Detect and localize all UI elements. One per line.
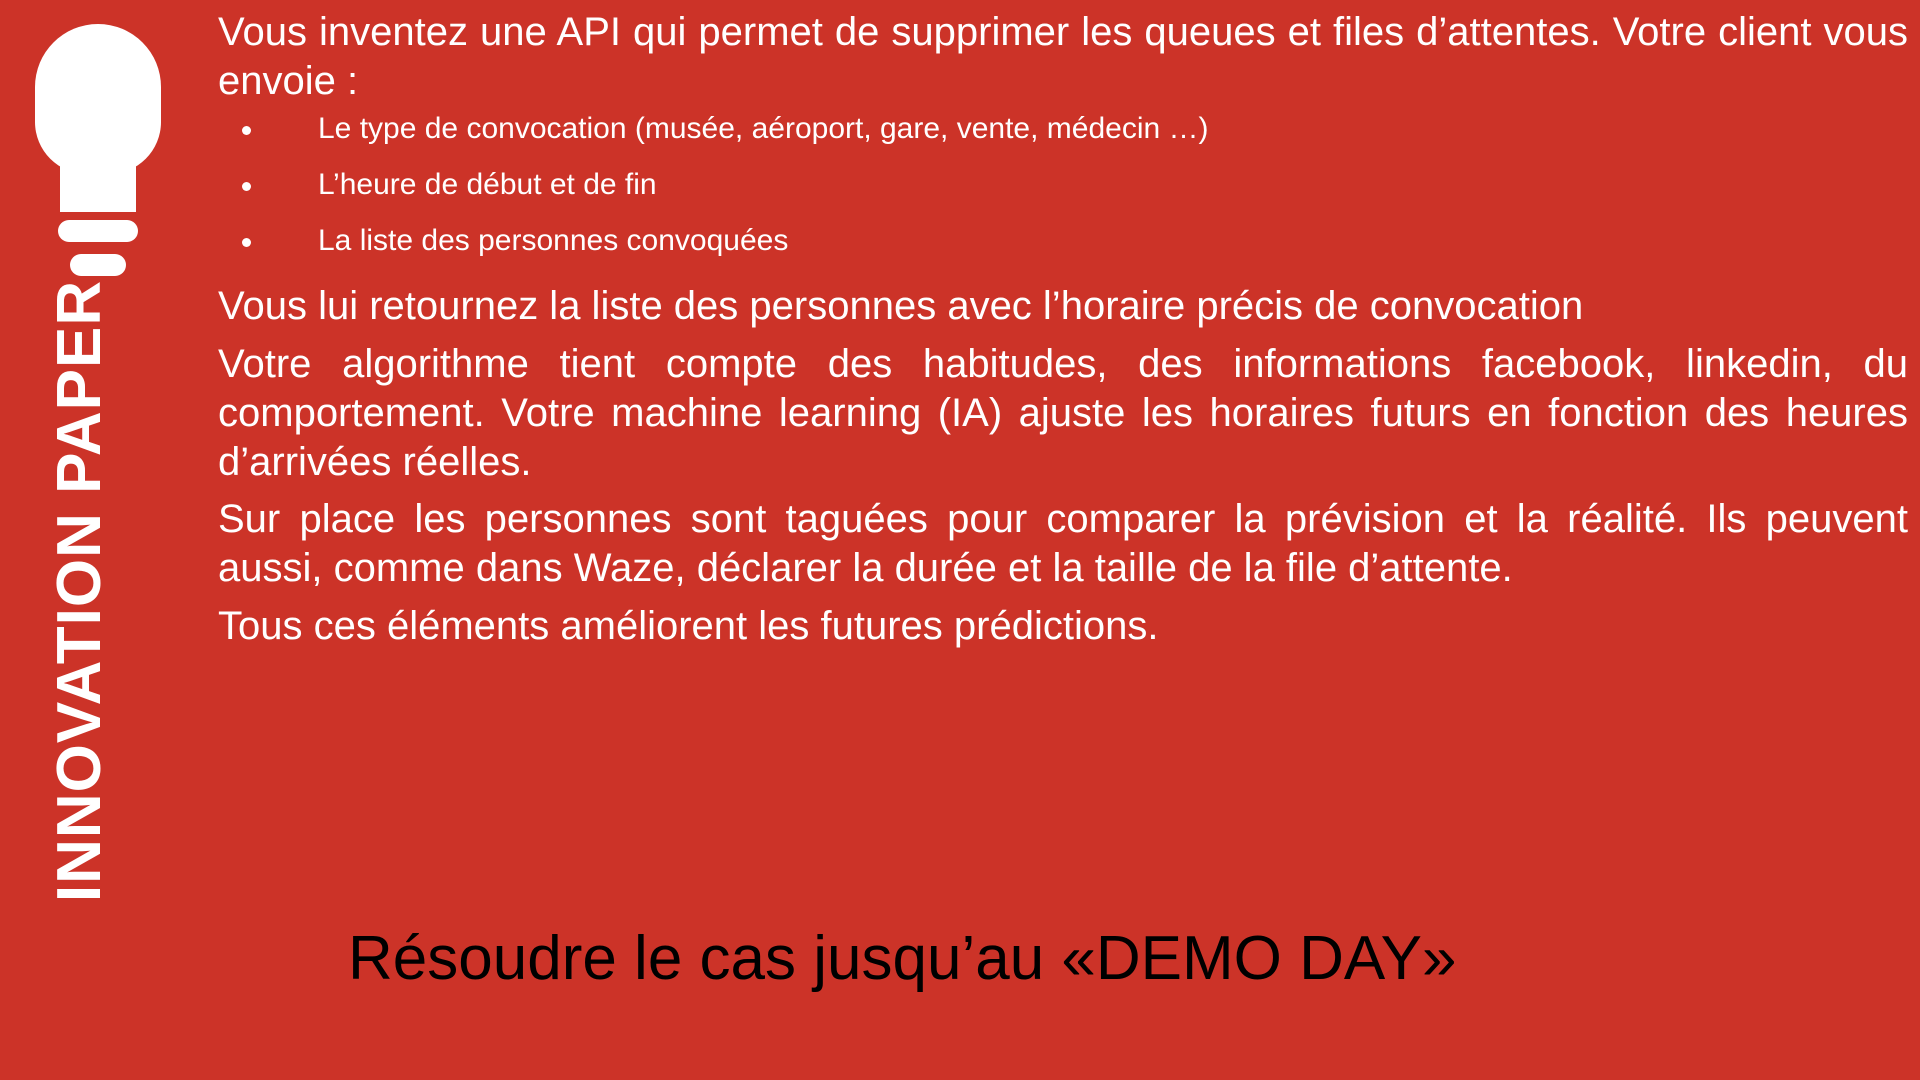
left-rail: INNOVATION PAPER	[0, 0, 200, 1080]
lightbulb-glass	[35, 24, 161, 174]
list-item-label: L’heure de début et de fin	[318, 168, 657, 201]
list-item-label: Le type de convocation (musée, aéroport,…	[318, 112, 1209, 145]
list-item: L’heure de début et de fin	[218, 170, 1908, 200]
paragraph-algorithm: Votre algorithme tient compte des habitu…	[218, 340, 1908, 488]
bullet-dot-icon	[242, 238, 251, 247]
paragraph-return-list: Vous lui retournez la liste des personne…	[218, 282, 1908, 331]
list-item: La liste des personnes convoquées	[218, 226, 1908, 256]
list-item-label: La liste des personnes convoquées	[318, 224, 788, 257]
bullet-dot-icon	[242, 182, 251, 191]
paragraph-on-site-tagging: Sur place les personnes sont taguées pou…	[218, 495, 1908, 593]
slide-canvas: INNOVATION PAPER Vous inventez une API q…	[0, 0, 1920, 1080]
call-to-action-heading: Résoudre le cas jusqu’au «DEMO DAY»	[218, 925, 1908, 993]
list-item: Le type de convocation (musée, aéroport,…	[218, 114, 1908, 144]
vertical-section-title: INNOVATION PAPER	[49, 181, 111, 1001]
requirements-list: Le type de convocation (musée, aéroport,…	[218, 114, 1908, 256]
bullet-dot-icon	[242, 126, 251, 135]
intro-paragraph: Vous inventez une API qui permet de supp…	[218, 8, 1908, 106]
paragraph-improve-predictions: Tous ces éléments améliorent les futures…	[218, 602, 1908, 651]
main-content: Vous inventez une API qui permet de supp…	[218, 8, 1908, 659]
